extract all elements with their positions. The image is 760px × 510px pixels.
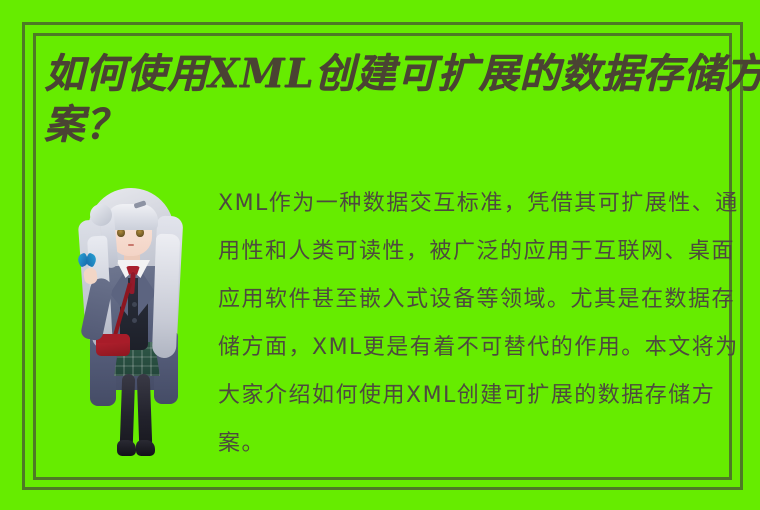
shoe-right <box>136 440 155 456</box>
anime-schoolgirl-illustration <box>62 182 204 470</box>
hair-front-right <box>152 234 180 359</box>
leg-right <box>137 374 153 446</box>
mouth <box>128 244 134 246</box>
hair-bun <box>90 204 112 226</box>
page-title: 如何使用XML创建可扩展的数据存储方案？ <box>44 48 760 150</box>
shoe-left <box>117 440 136 456</box>
vest-button-top <box>132 302 137 307</box>
vest-button-bottom <box>132 318 137 323</box>
article-body-text: XML作为一种数据交互标准，凭借其可扩展性、通用性和人类可读性，被广泛的应用于互… <box>218 180 740 480</box>
leg-left <box>120 374 136 446</box>
poster-canvas: 如何使用XML创建可扩展的数据存储方案？ XML作为一种数据交互标准，凭借其可扩… <box>0 0 760 510</box>
